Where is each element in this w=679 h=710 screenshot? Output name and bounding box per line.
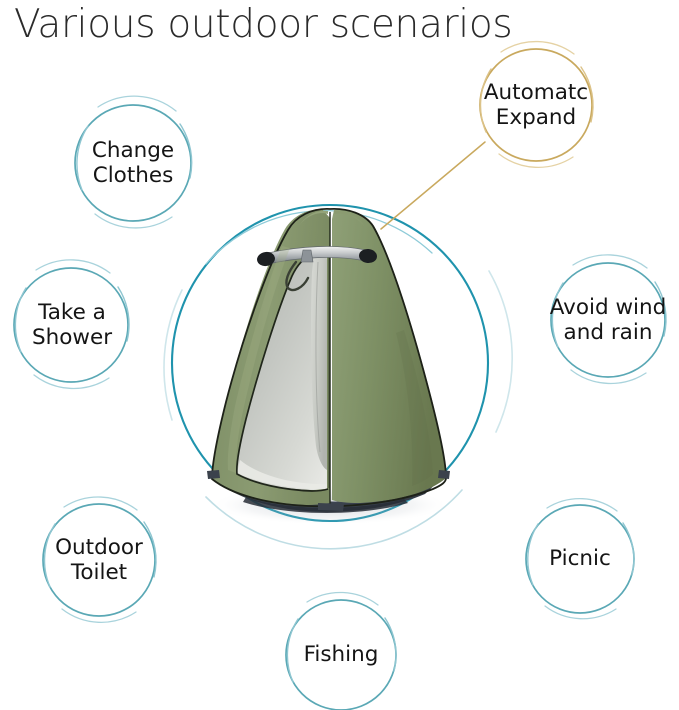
bubble-fishing[interactable] [286,600,396,710]
tent-illustration [207,209,450,513]
bubble-automatic-expand[interactable] [480,49,592,161]
bubble-avoid-wind-and-rain[interactable] [551,263,665,377]
tent-corner-tab-right [438,470,450,479]
bubble-outdoor-toilet[interactable] [43,504,155,616]
tent-corner-tab-left [207,470,220,479]
tent-corner-tab-front [318,503,344,511]
infographic-canvas: Various outdoor scenarios [0,0,679,698]
bubble-picnic[interactable] [526,505,634,613]
tent-rod-bracket [301,250,313,262]
bubble-take-a-shower[interactable] [14,268,128,382]
automatic-expand-leader-line [381,142,485,229]
center-ring-outer-arc-right [489,271,512,432]
bubble-change-clothes[interactable] [75,105,191,221]
